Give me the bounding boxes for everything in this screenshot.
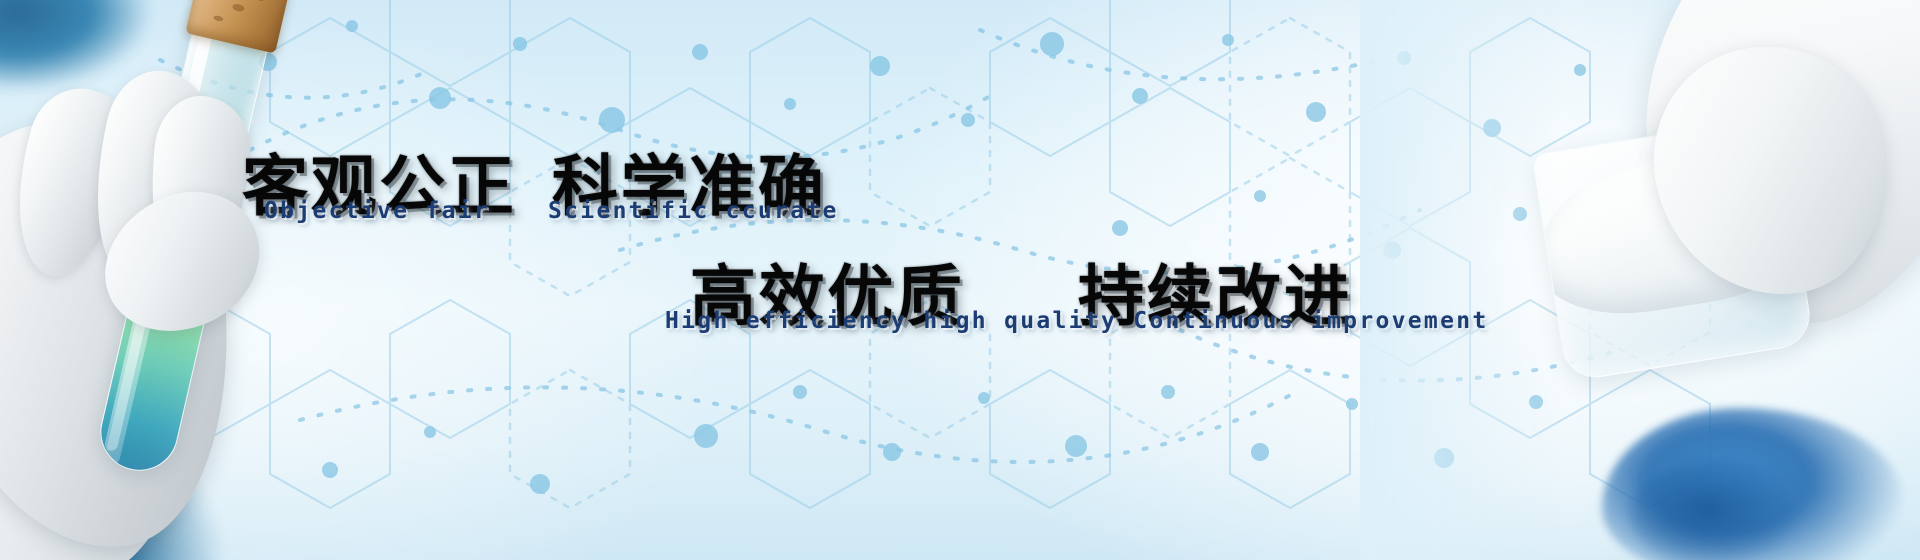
slogan-1-english: Objective fair bbox=[264, 198, 490, 224]
lab-services-banner: 客观公正 Objective fair 科学准确 Scientific ccur… bbox=[0, 0, 1920, 560]
slogan-2-english: Scientific ccurate bbox=[548, 198, 839, 224]
slogan-group: 客观公正 Objective fair 科学准确 Scientific ccur… bbox=[0, 0, 1920, 560]
slogan-row2-english: High efficiency high quality Continuous … bbox=[665, 308, 1489, 334]
